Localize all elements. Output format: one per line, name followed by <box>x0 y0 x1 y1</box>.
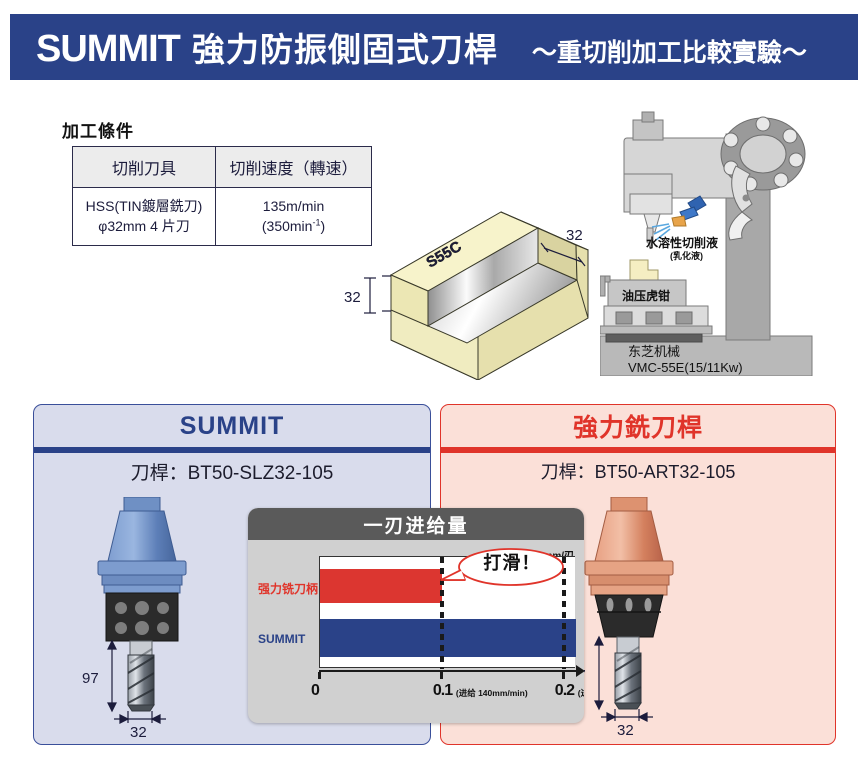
brand-name: SUMMIT <box>36 28 180 71</box>
page-header: SUMMIT 強力防振側固式刀桿 ～重切削加工比較實驗～ <box>10 14 858 80</box>
column-header-speed: 切削速度（轉速） <box>216 147 372 188</box>
workpiece-block <box>391 212 588 380</box>
dimension-length <box>595 637 603 709</box>
tool-spec-line2: φ32mm 4 片刀 <box>98 218 190 234</box>
panel-header-standard: 強力銑刀桿 <box>441 405 835 447</box>
dimension-height-label: 32 <box>344 289 361 306</box>
series-label-summit: SUMMIT <box>258 632 305 646</box>
coolant-sublabel: (乳化液) <box>670 250 703 261</box>
chart-body: 强力铣刀柄 SUMMIT 0 0.1 (进给 140mm/min) 0.2 (进… <box>248 540 584 723</box>
vise-label: 油压虎钳 <box>622 288 670 303</box>
header-title-cn: 強力防振側固式刀桿 <box>192 23 498 71</box>
dimension-diameter <box>601 709 653 721</box>
holder-model-label: 刀桿：BT50-ART32-105 <box>441 458 835 484</box>
dimension-width-label: 32 <box>566 227 583 244</box>
bar-standard <box>320 569 442 603</box>
machine-maker: 东芝机械 <box>628 344 680 359</box>
conditions-table: 切削刀具 切削速度（轉速） HSS(TIN鍍層銑刀) φ32mm 4 片刀 13… <box>72 146 372 246</box>
tick-label-0: 0 <box>311 682 319 700</box>
tick-mark-2 <box>562 672 565 679</box>
tick-note-2: (进给 280mm/ <box>578 687 584 699</box>
conditions-heading: 加工條件 <box>62 117 134 142</box>
machine-model: VMC-55E(15/11Kw) <box>628 360 743 375</box>
speed-value: 135m/min <box>263 198 324 214</box>
tool-spec-line1: HSS(TIN鍍層銑刀) <box>86 198 203 214</box>
table-header-row: 切削刀具 切削速度（轉速） <box>73 147 372 188</box>
tool-holder-summit: 97 32 <box>54 497 254 737</box>
panel-title: SUMMIT <box>180 412 285 441</box>
page-title: SUMMIT 強力防振側固式刀桿 ～重切削加工比較實驗～ <box>36 23 807 71</box>
coolant-label: 水溶性切削液 <box>646 235 718 250</box>
dimension-height <box>364 276 391 313</box>
tick-mark-1 <box>440 672 443 679</box>
feed-per-tooth-chart: 一刃进给量 mm/刃 强力铣刀柄 SUMMIT 0 0.1 (进给 140mm/… <box>248 508 584 723</box>
holder-model-label: 刀桿：BT50-SLZ32-105 <box>34 458 430 485</box>
panel-header-summit: SUMMIT <box>34 405 430 447</box>
workpiece-illustration: S55C 32 32 <box>338 190 628 380</box>
dimension-diameter-label: 32 <box>130 724 147 737</box>
tick-mark-0 <box>318 672 321 679</box>
slip-callout-text: 打滑！ <box>469 549 555 575</box>
chart-title: 一刃进给量 <box>363 511 468 538</box>
chart-x-axis <box>319 670 581 672</box>
cell-tool: HSS(TIN鍍層銑刀) φ32mm 4 片刀 <box>73 188 216 246</box>
column-header-tool: 切削刀具 <box>73 147 216 188</box>
tick-note-1: (进给 140mm/min) <box>456 687 528 699</box>
panel-divider <box>34 447 430 453</box>
panel-divider <box>441 447 835 453</box>
tick-label-1: 0.1 <box>433 682 452 700</box>
dimension-length <box>108 641 116 711</box>
dimension-diameter-label: 32 <box>617 722 634 737</box>
axis-arrow-icon <box>576 665 584 677</box>
header-subtitle: ～重切削加工比較實驗～ <box>532 33 807 69</box>
dimension-diameter <box>114 711 166 723</box>
bar-summit <box>320 619 576 657</box>
spindle-speed-post: ) <box>320 218 325 234</box>
chart-header: 一刃进给量 <box>248 508 584 540</box>
spindle-speed-pre: (350min <box>262 218 313 234</box>
machine-illustration: 水溶性切削液 (乳化液) 油压虎钳 东芝机械 VMC-55E(15/11Kw) <box>600 108 862 376</box>
panel-title: 強力銑刀桿 <box>573 408 703 444</box>
dimension-length-label: 97 <box>82 670 99 687</box>
series-label-standard: 强力铣刀柄 <box>258 580 318 597</box>
table-row: HSS(TIN鍍層銑刀) φ32mm 4 片刀 135m/min (350min… <box>73 188 372 246</box>
spindle-speed: (350min-1) <box>262 218 325 234</box>
tick-label-2: 0.2 <box>555 682 574 700</box>
